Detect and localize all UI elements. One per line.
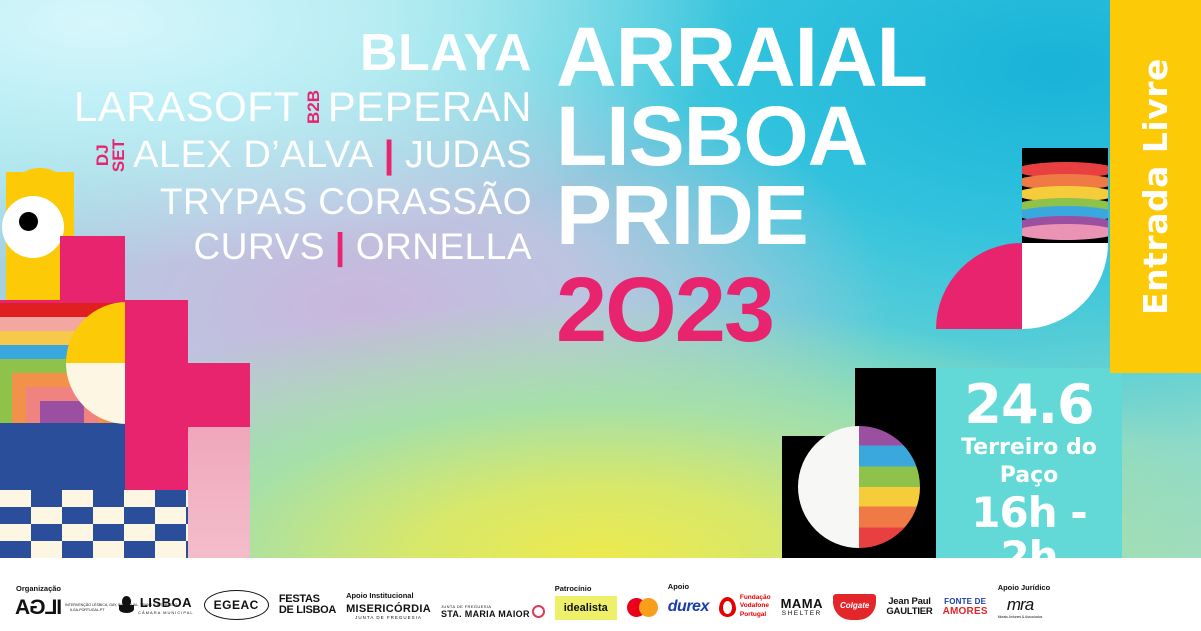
- sponsor-group-juridico: Apoio Jurídico mra Morais Antunes & Asso…: [998, 570, 1051, 620]
- logo-lisboa-subtitle: CÂMARA MUNICIPAL: [138, 610, 194, 615]
- sponsor-group-city: LISBOA CÂMARA MUNICIPAL EGEAC FESTAS DE …: [119, 570, 336, 620]
- lineup-separator-1: |: [384, 134, 395, 177]
- event-poster: BLAYA LARASOFT B2B PEPERAN DJ SET ALEX D…: [0, 0, 1201, 631]
- logo-ilga-text: ILGA: [16, 596, 62, 620]
- event-date: 24.6: [945, 378, 1113, 432]
- title-line-2: LISBOA: [556, 97, 986, 176]
- logo-egeac: EGEAC: [204, 590, 269, 620]
- b2b-badge: B2B: [306, 90, 322, 124]
- logo-ilga-portugal: ILGA INTERVENÇÃO LÉSBICA, GAY, BISSEXUAL…: [16, 596, 109, 620]
- pink-square-f: [125, 363, 188, 427]
- dj-set-badge: DJ SET: [95, 139, 127, 172]
- vodafone-speechmark-icon: [719, 597, 736, 617]
- logo-festas-de-lisboa: FESTAS DE LISBOA: [279, 594, 336, 616]
- page-title: ARRAIAL LISBOA PRIDE 2O23: [556, 18, 986, 355]
- logo-misericordia-text: MISERICÓRDIA: [346, 603, 431, 615]
- wave-stripe-pink: [1022, 224, 1108, 240]
- title-line-3: PRIDE: [556, 176, 986, 255]
- logo-mra-subtitle: Morais Antunes & Associados: [998, 615, 1043, 619]
- sponsor-group-label-patrocinio: Patrocínio: [555, 584, 658, 593]
- sponsor-group-label-organizacao: Organização: [16, 584, 109, 593]
- white-quarter-circle: [1022, 243, 1108, 329]
- sponsor-bar: Organização ILGA INTERVENÇÃO LÉSBICA, GA…: [0, 558, 1201, 631]
- logo-fonte-line-1: FONTE DE: [944, 597, 986, 606]
- sponsor-group-patrocinio: Patrocínio idealista: [555, 570, 658, 620]
- logo-lisboa-camara-municipal: LISBOA CÂMARA MUNICIPAL: [119, 595, 194, 615]
- lineup-headliner: BLAYA: [360, 26, 532, 81]
- sponsor-group-organizacao: Organização ILGA INTERVENÇÃO LÉSBICA, GA…: [16, 570, 109, 620]
- circle-half-rainbow: [859, 426, 920, 548]
- poster-artwork: BLAYA LARASOFT B2B PEPERAN DJ SET ALEX D…: [0, 0, 1201, 558]
- sponsor-group-label-institucional: Apoio Institucional: [346, 591, 545, 600]
- logo-mama-shelter: MAMA SHELTER: [781, 597, 823, 617]
- lineup-artist-peperan: PEPERAN: [328, 83, 532, 130]
- sta-maria-ring-icon: [532, 605, 545, 618]
- pink-square-e: [125, 300, 188, 363]
- logo-festas-line-1: FESTAS: [279, 594, 320, 605]
- title-year: 2O23: [556, 265, 986, 355]
- logo-vodafone-line-3: Portugal: [740, 611, 766, 619]
- circle-half-white: [798, 426, 859, 548]
- mastercard-orange-circle-icon: [639, 598, 658, 617]
- sponsor-group-label-juridico: Apoio Jurídico: [998, 583, 1051, 592]
- sponsor-group-label-apoio: Apoio: [668, 582, 988, 591]
- lisboa-crest-icon: [119, 596, 134, 613]
- logo-mama-text: MAMA: [781, 597, 823, 610]
- event-hours: 16h - 2h: [945, 491, 1113, 558]
- logo-idealista: idealista: [555, 596, 617, 620]
- lineup-separator-2: |: [335, 226, 346, 267]
- logo-mra-text: mra: [1007, 595, 1033, 615]
- checkerboard-pattern: [0, 490, 188, 558]
- lineup-list: BLAYA LARASOFT B2B PEPERAN DJ SET ALEX D…: [20, 26, 532, 268]
- event-details: 24.6 Terreiro do Paço 16h - 2h: [945, 378, 1113, 558]
- lineup-artist-trypas-corassao: TRYPAS CORASSÃO: [160, 181, 532, 222]
- logo-vodafone-line-1: Fundação: [740, 594, 771, 602]
- dj-set-badge-bottom: SET: [111, 139, 127, 172]
- logo-sta-maria-text: STA. MARIA MAIOR: [441, 609, 530, 619]
- logo-mama-subtitle: SHELTER: [782, 610, 822, 617]
- lineup-artist-ornella: ORNELLA: [356, 226, 532, 267]
- logo-misericordia: MISERICÓRDIA JUNTA DE FREGUESIA: [346, 603, 431, 620]
- logo-fonte-line-2: AMORES: [943, 606, 988, 617]
- pink-square-c: [188, 363, 250, 427]
- logo-mastercard: [627, 598, 658, 617]
- title-line-1: ARRAIAL: [556, 18, 986, 97]
- logo-vodafone-line-2: Vodafone: [740, 602, 769, 610]
- logo-santa-maria-maior: JUNTA DE FREGUESIA STA. MARIA MAIOR: [441, 604, 545, 619]
- logo-misericordia-subtitle: JUNTA DE FREGUESIA: [355, 615, 422, 620]
- lineup-artist-judas: JUDAS: [405, 134, 532, 177]
- lineup-artist-curvs: CURVS: [194, 226, 325, 267]
- rainbow-wave-graphic: [1022, 148, 1108, 243]
- pink-gradient-bar: [188, 427, 250, 558]
- logo-fonte-de-amores: FONTE DE AMORES: [943, 597, 988, 617]
- logo-fundacao-vodafone-portugal: Fundação Vodafone Portugal: [719, 594, 771, 619]
- logo-lisboa-text: LISBOA: [140, 595, 192, 610]
- split-rainbow-circle: [798, 426, 920, 548]
- logo-jpg-line-2: GAULTIER: [886, 607, 932, 617]
- logo-jean-paul-gaultier: Jean Paul GAULTIER: [886, 597, 932, 616]
- circle-quadrant-cream: [66, 363, 127, 424]
- free-entry-label: Entrada Livre: [1110, 0, 1201, 373]
- event-venue: Terreiro do Paço: [945, 434, 1113, 489]
- circle-quadrant-yellow: [66, 302, 127, 363]
- lineup-artist-larasoft: LARASOFT: [74, 83, 300, 130]
- free-entry-banner: Entrada Livre: [1110, 0, 1201, 373]
- logo-mra-advogados: mra Morais Antunes & Associados: [998, 595, 1043, 619]
- logo-colgate: Colgate: [833, 594, 876, 620]
- logo-festas-line-2: DE LISBOA: [279, 605, 336, 616]
- sponsor-group-apoio: Apoio durex Fundação Vodafone Portugal M…: [668, 570, 988, 620]
- lineup-artist-alex-dalva: ALEX D’ALVA: [133, 134, 374, 177]
- sponsor-group-institucional: Apoio Institucional MISERICÓRDIA JUNTA D…: [346, 570, 545, 620]
- logo-durex: durex: [668, 598, 709, 616]
- logo-ilga-url: ILGA-PORTUGAL.PT: [70, 608, 105, 613]
